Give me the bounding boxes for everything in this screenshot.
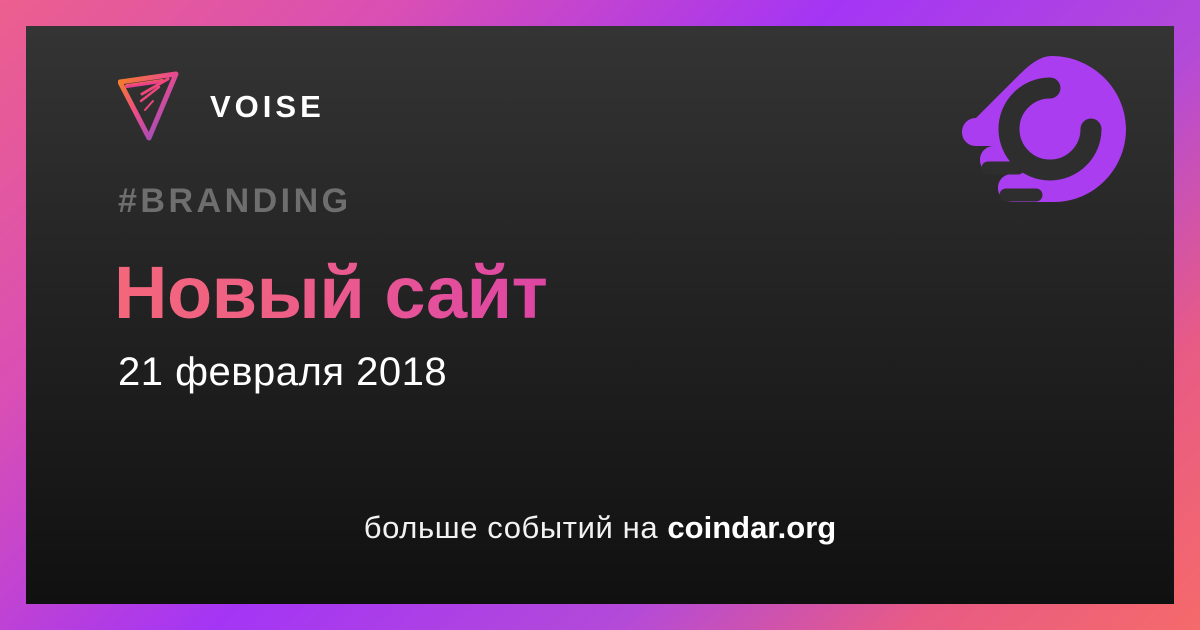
event-date: 21 февраля 2018: [118, 352, 447, 392]
event-card: VOISE #BRANDING Новый сайт 21 февраля 20…: [0, 0, 1200, 630]
footer-note: больше событий на coindar.org: [26, 512, 1174, 543]
card-panel: VOISE #BRANDING Новый сайт 21 февраля 20…: [26, 26, 1174, 604]
coindar-comet-icon: [954, 48, 1134, 228]
brand-name: VOISE: [210, 91, 325, 122]
page-title: Новый сайт: [114, 252, 547, 333]
voise-v-logo-icon: [118, 70, 180, 142]
brand-row: VOISE: [118, 70, 325, 142]
footer-prefix: больше событий на: [364, 510, 658, 545]
footer-site-link[interactable]: coindar.org: [667, 510, 836, 545]
category-tag: #BRANDING: [118, 184, 352, 218]
